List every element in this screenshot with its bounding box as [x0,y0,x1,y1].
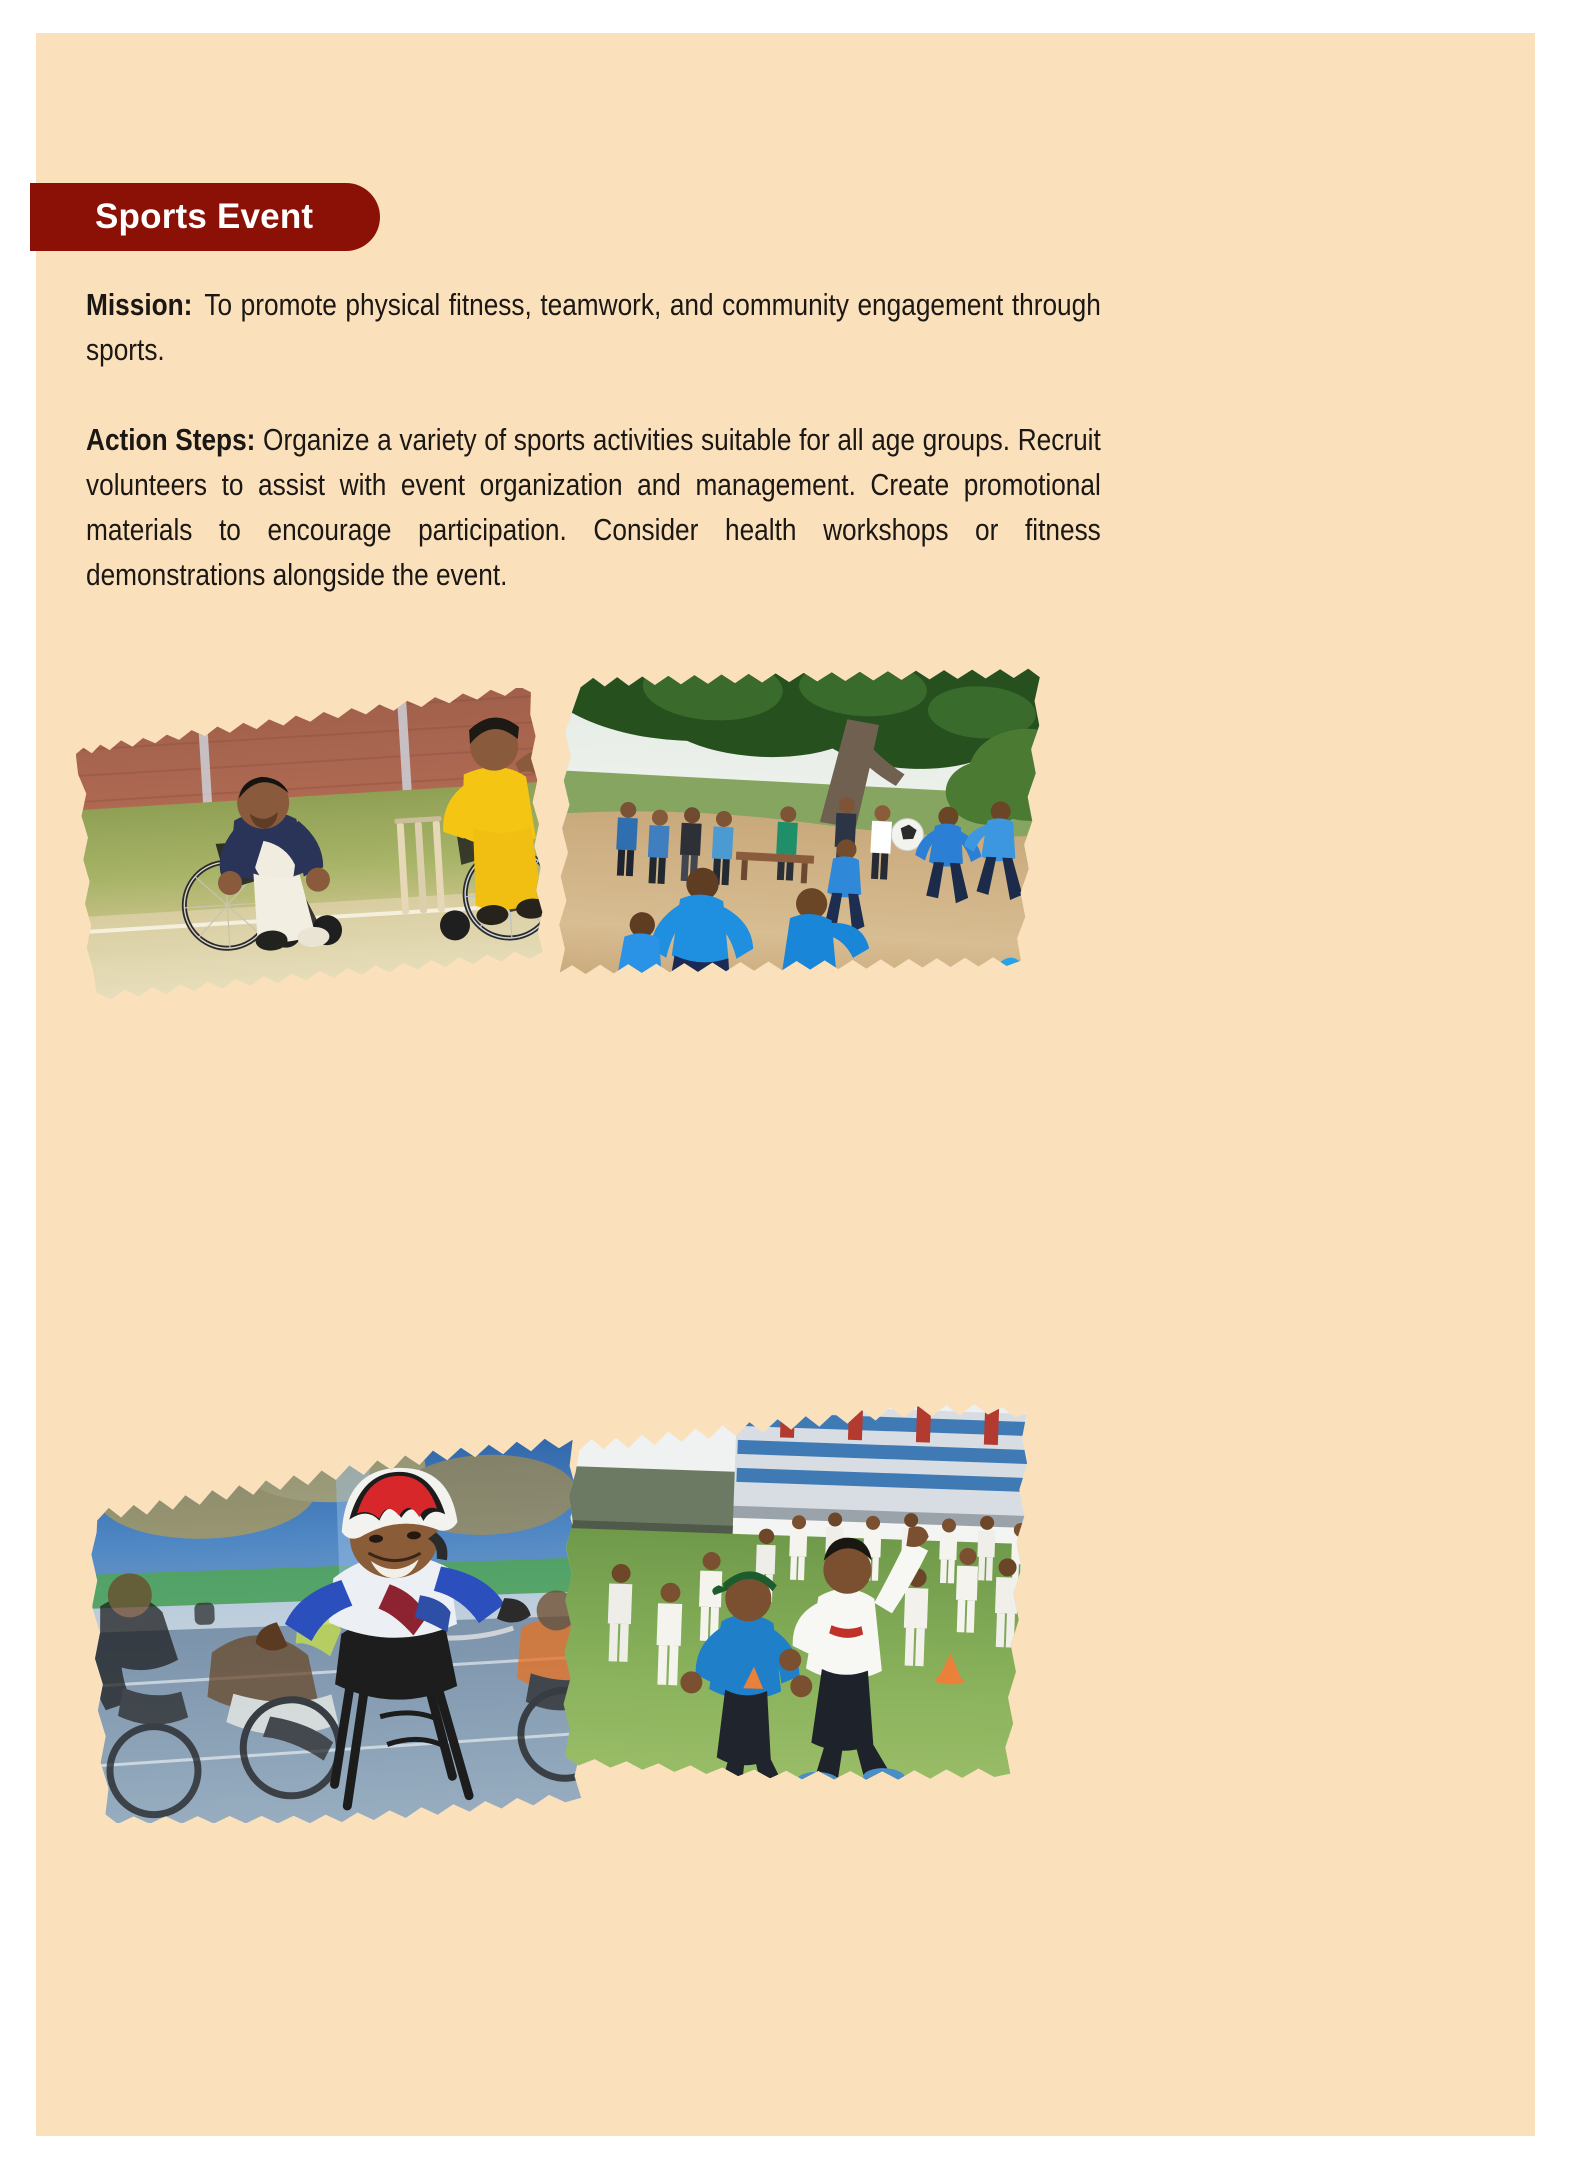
photo-cricket-warmup [561,1378,1031,1783]
wheelchair-cricket-photo [76,688,546,1008]
photo-village-football [556,633,1046,1008]
poster-page: Sports Event Mission:To promote physical… [36,33,1535,2136]
wheelchair-racing-photo [91,1428,591,1823]
photo-wheelchair-cricket [76,688,546,1008]
village-football-photo [556,633,1046,1008]
photo-wheelchair-racing [91,1428,591,1823]
cricket-warmup-photo [561,1378,1031,1783]
photo-collage [36,33,1535,2136]
